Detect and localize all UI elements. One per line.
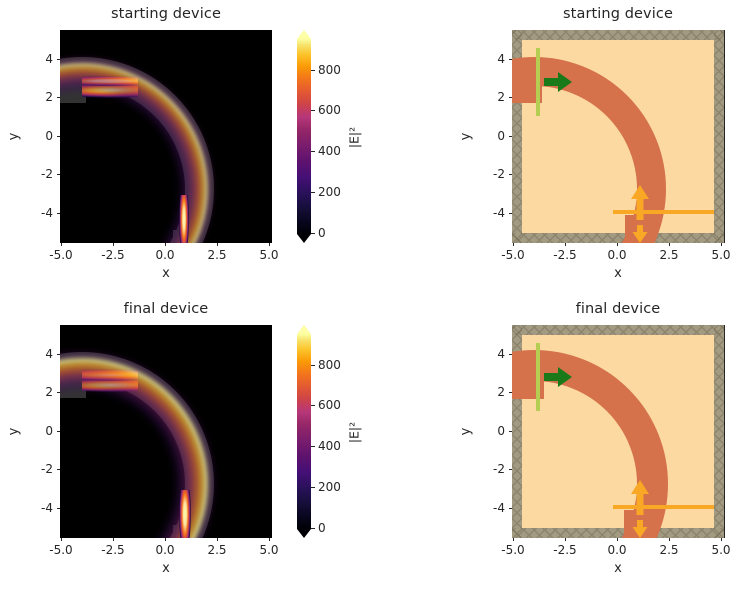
colorbar-extend-top-icon [297, 30, 311, 39]
colorbar-extend-bottom-icon [297, 234, 311, 243]
monitor-direction-arrow-icon [630, 185, 650, 243]
xtick-mark [669, 538, 670, 541]
device-axes-right-spine [724, 325, 725, 538]
xtick-mark [617, 538, 618, 541]
ytick-mark [509, 174, 512, 175]
ytick-mark [57, 97, 60, 98]
y-axis-label: y [459, 117, 474, 157]
ytick-mark [509, 213, 512, 214]
x-axis-label: x [60, 561, 272, 576]
ytick-label: -2 [472, 462, 505, 476]
panel-title: starting device [512, 6, 724, 22]
device-axes-final [512, 325, 724, 538]
xtick-mark [513, 243, 514, 246]
colorbar-gradient [297, 39, 311, 234]
ytick-mark [57, 354, 60, 355]
ytick-label: 0 [472, 424, 505, 438]
ytick-label: 0 [20, 129, 53, 143]
ytick-mark [57, 431, 60, 432]
cbtick-mark [311, 70, 315, 71]
cbtick-label: 0 [318, 521, 326, 535]
colorbar-gradient [297, 334, 311, 529]
ytick-label: 2 [472, 385, 505, 399]
xtick-mark [565, 243, 566, 246]
xtick-label: 0.0 [140, 248, 190, 262]
xtick-label: -2.5 [88, 543, 138, 557]
xtick-mark [269, 538, 270, 541]
xtick-label: 0.0 [140, 543, 190, 557]
field-glow-output [168, 490, 208, 538]
xtick-label: -5.0 [36, 248, 86, 262]
xtick-label: -2.5 [88, 248, 138, 262]
cbtick-label: 200 [318, 480, 341, 494]
cbtick-label: 600 [318, 103, 341, 117]
xtick-mark [113, 243, 114, 246]
y-axis-label: y [7, 117, 22, 157]
ytick-mark [509, 392, 512, 393]
xtick-mark [113, 538, 114, 541]
device-axes-starting [512, 30, 724, 243]
y-axis-label: y [459, 412, 474, 452]
cbtick-mark [311, 487, 315, 488]
ytick-mark [509, 431, 512, 432]
xtick-label: 5.0 [696, 543, 734, 557]
ytick-label: 2 [20, 90, 53, 104]
ytick-label: 4 [20, 52, 53, 66]
ytick-label: -4 [472, 206, 505, 220]
device-axes-right-spine [724, 30, 725, 243]
ytick-label: 4 [472, 347, 505, 361]
y-axis-label: y [7, 412, 22, 452]
xtick-label: -2.5 [540, 248, 590, 262]
cbtick-mark [311, 405, 315, 406]
ytick-mark [57, 392, 60, 393]
xtick-label: -2.5 [540, 543, 590, 557]
panel-title: final device [512, 301, 724, 317]
ytick-mark [509, 354, 512, 355]
xtick-mark [217, 538, 218, 541]
colorbar-final [297, 334, 311, 529]
xtick-label: -5.0 [36, 543, 86, 557]
ytick-mark [509, 59, 512, 60]
x-axis-label: x [512, 266, 724, 281]
cbtick-mark [311, 446, 315, 447]
xtick-mark [721, 538, 722, 541]
xtick-mark [669, 243, 670, 246]
pml-hatch-right [714, 325, 724, 538]
cbtick-label: 200 [318, 185, 341, 199]
xtick-label: 2.5 [644, 248, 694, 262]
ytick-mark [509, 508, 512, 509]
ytick-label: 2 [472, 90, 505, 104]
source-direction-arrow-icon [543, 71, 573, 93]
source-direction-arrow-icon [543, 366, 573, 388]
cbtick-mark [311, 233, 315, 234]
colorbar-starting [297, 39, 311, 234]
colorbar-extend-bottom-icon [297, 529, 311, 538]
ytick-label: 2 [20, 385, 53, 399]
xtick-label: 5.0 [696, 248, 734, 262]
xtick-label: 5.0 [244, 543, 294, 557]
monitor-plane-line [613, 210, 714, 214]
x-axis-label: x [512, 561, 724, 576]
ytick-label: -4 [472, 501, 505, 515]
panel-title: final device [60, 301, 272, 317]
cbtick-mark [311, 365, 315, 366]
cbtick-label: 400 [318, 439, 341, 453]
ytick-mark [57, 508, 60, 509]
monitor-direction-arrow-icon [630, 480, 650, 538]
cbtick-mark [311, 528, 315, 529]
xtick-mark [269, 243, 270, 246]
colorbar-label: |E|² [347, 118, 362, 158]
xtick-mark [513, 538, 514, 541]
xtick-label: 0.0 [592, 248, 642, 262]
cbtick-label: 400 [318, 144, 341, 158]
ytick-label: -2 [20, 462, 53, 476]
colorbar-label: |E|² [347, 413, 362, 453]
ytick-label: 0 [472, 129, 505, 143]
cbtick-label: 600 [318, 398, 341, 412]
ytick-label: 0 [20, 424, 53, 438]
monitor-plane-line [613, 505, 714, 509]
ytick-mark [509, 97, 512, 98]
cbtick-label: 800 [318, 63, 341, 77]
xtick-label: 5.0 [244, 248, 294, 262]
ytick-mark [509, 136, 512, 137]
ytick-mark [57, 174, 60, 175]
cbtick-label: 800 [318, 358, 341, 372]
ytick-label: -2 [472, 167, 505, 181]
ytick-mark [57, 59, 60, 60]
xtick-mark [217, 243, 218, 246]
field-axes-final [60, 325, 272, 538]
pml-hatch-top [512, 325, 724, 335]
xtick-label: 0.0 [592, 543, 642, 557]
ytick-mark [57, 213, 60, 214]
ytick-label: 4 [472, 52, 505, 66]
ytick-mark [57, 136, 60, 137]
field-axes-starting [60, 30, 272, 243]
source-plane-line [536, 48, 540, 116]
x-axis-label: x [60, 266, 272, 281]
xtick-label: -5.0 [488, 248, 538, 262]
xtick-mark [165, 243, 166, 246]
ytick-label: 4 [20, 347, 53, 361]
xtick-label: 2.5 [192, 543, 242, 557]
xtick-label: -5.0 [488, 543, 538, 557]
xtick-mark [165, 538, 166, 541]
xtick-label: 2.5 [192, 248, 242, 262]
ytick-label: -2 [20, 167, 53, 181]
field-glow-output [168, 195, 208, 243]
cbtick-mark [311, 151, 315, 152]
ytick-label: -4 [20, 501, 53, 515]
xtick-label: 2.5 [644, 543, 694, 557]
cbtick-label: 0 [318, 226, 326, 240]
figure-canvas: starting device -5.0 -2.5 0.0 [0, 0, 734, 590]
xtick-mark [617, 243, 618, 246]
cbtick-mark [311, 192, 315, 193]
pml-hatch-top [512, 30, 724, 40]
panel-title: starting device [60, 6, 272, 22]
xtick-mark [61, 243, 62, 246]
xtick-mark [565, 538, 566, 541]
xtick-mark [61, 538, 62, 541]
pml-hatch-right [714, 30, 724, 243]
ytick-mark [57, 469, 60, 470]
colorbar-extend-top-icon [297, 325, 311, 334]
xtick-mark [721, 243, 722, 246]
source-plane-line [536, 343, 540, 411]
cbtick-mark [311, 110, 315, 111]
ytick-label: -4 [20, 206, 53, 220]
ytick-mark [509, 469, 512, 470]
